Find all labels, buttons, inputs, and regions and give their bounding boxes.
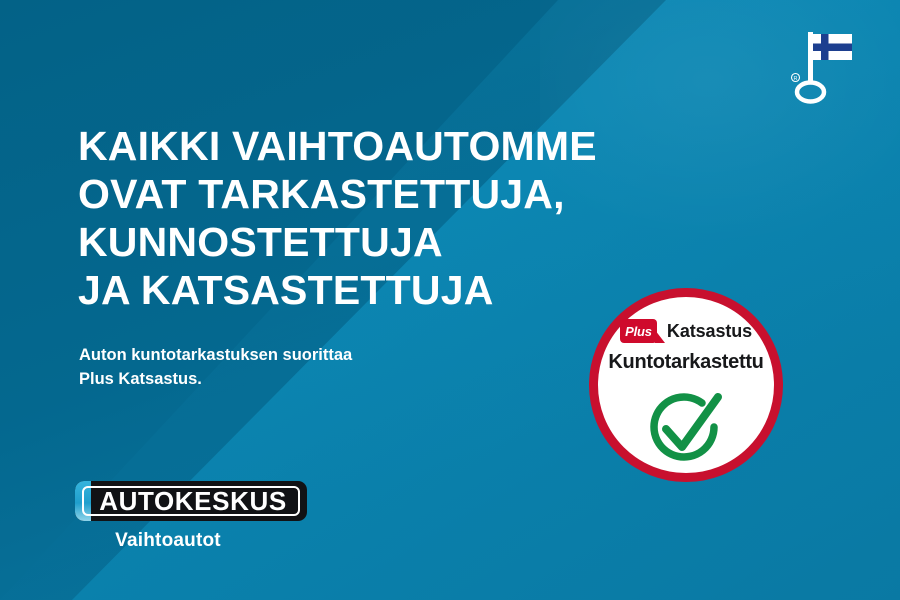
svg-text:R: R: [794, 76, 798, 82]
subline-line-1: Auton kuntotarkastuksen suorittaa: [79, 343, 499, 367]
headline-line-4: JA KATSASTETTUJA: [78, 266, 698, 314]
headline-line-3: KUNNOSTETTUJA: [78, 218, 698, 266]
green-check-circle-icon: [640, 389, 732, 469]
katsastus-label: Katsastus: [662, 321, 752, 342]
subline-line-2: Plus Katsastus.: [79, 367, 499, 391]
headline-line-2: OVAT TARKASTETTUJA,: [78, 170, 698, 218]
autokeskus-sublabel: Vaihtoautot: [75, 530, 307, 552]
seal-title: Kuntotarkastettu: [598, 351, 774, 374]
seal-brand-row: Plus Katsastus: [598, 319, 774, 343]
avainlippu-key-flag-icon: R: [786, 26, 858, 106]
headline: KAIKKI VAIHTOAUTOMME OVAT TARKASTETTUJA,…: [78, 122, 698, 314]
subline: Auton kuntotarkastuksen suorittaa Plus K…: [79, 343, 499, 391]
plus-logo-badge: Plus: [620, 319, 657, 343]
autokeskus-plate: AUTOKESKUS: [75, 481, 307, 521]
plus-label: Plus: [625, 325, 652, 338]
autokeskus-wordmark: AUTOKESKUS: [75, 481, 307, 521]
plus-katsastus-seal: Plus Katsastus Kuntotarkastettu: [589, 288, 783, 482]
promo-banner: R KAIKKI VAIHTOAUTOMME OVAT TARKASTETTUJ…: [0, 0, 900, 600]
headline-line-1: KAIKKI VAIHTOAUTOMME: [78, 122, 698, 170]
autokeskus-logo[interactable]: AUTOKESKUS Vaihtoautot: [75, 481, 307, 552]
